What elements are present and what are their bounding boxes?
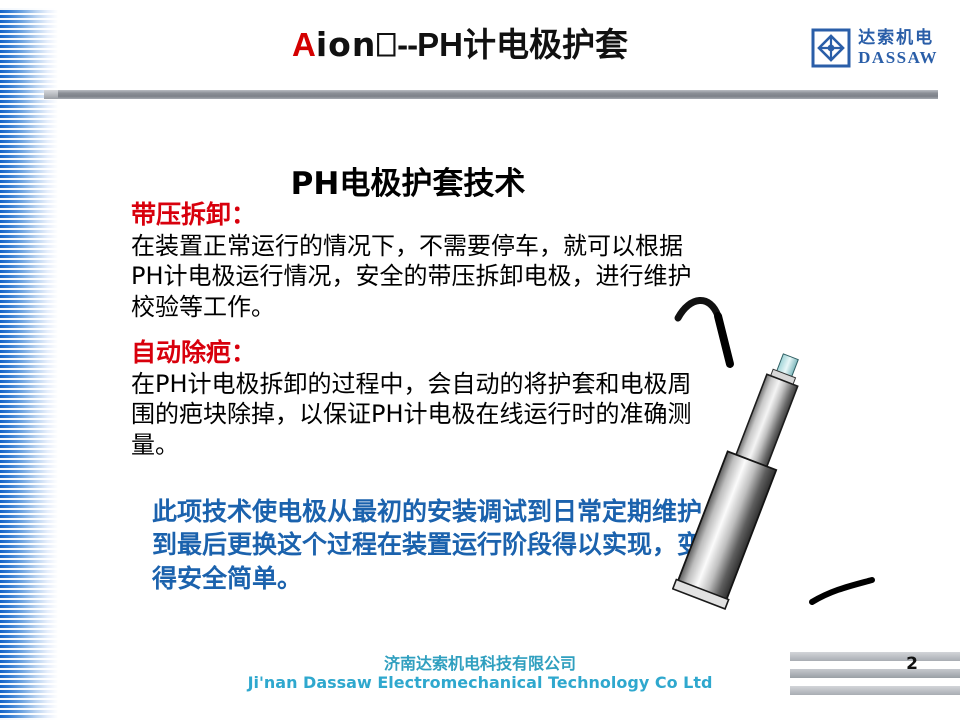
- company-logo: 达索机电 DASSAW: [811, 28, 938, 68]
- header-divider-cap: [44, 90, 58, 99]
- title-brand-rest: ion⎕: [316, 25, 397, 64]
- page-number: 2: [906, 654, 918, 674]
- footer-decoration-bars: [790, 652, 960, 708]
- title-main-text: PH计电极护套: [417, 26, 628, 63]
- slide-canvas: Aion⎕--PH计电极护套 达索机电 DASSAW PH电极护套技术 带压拆卸: [0, 0, 960, 720]
- content-block-1: 带压拆卸： 在装置正常运行的情况下，不需要停车，就可以根据PH计电极运行情况，安…: [131, 200, 711, 323]
- block-2-lead: 自动除疤：: [131, 338, 711, 368]
- logo-wordmark: 达索机电 DASSAW: [858, 30, 938, 66]
- footer-bar-1: [790, 652, 960, 661]
- footer-bar-2: [790, 669, 960, 678]
- logo-english-name: DASSAW: [858, 49, 938, 66]
- block-1-text: 在装置正常运行的情况下，不需要停车，就可以根据PH计电极运行情况，安全的带压拆卸…: [131, 231, 711, 323]
- highlight-note: 此项技术使电极从最初的安装调试到日常定期维护到最后更换这个过程在装置运行阶段得以…: [152, 495, 712, 595]
- slide-footer: 济南达索机电科技有限公司 Ji'nan Dassaw Electromechan…: [0, 640, 960, 720]
- ph-electrode-probe-image: [672, 280, 902, 620]
- header-divider-bar: [44, 90, 938, 99]
- content-block-2: 自动除疤： 在PH计电极拆卸的过程中，会自动的将护套和电极周围的疤块除掉，以保证…: [131, 338, 711, 461]
- block-2-text: 在PH计电极拆卸的过程中，会自动的将护套和电极周围的疤块除掉，以保证PH计电极在…: [131, 369, 711, 461]
- dassaw-square-logo-icon: [811, 28, 851, 68]
- block-1-lead: 带压拆卸：: [131, 200, 711, 230]
- footer-company-en: Ji'nan Dassaw Electromechanical Technolo…: [160, 673, 800, 692]
- logo-chinese-name: 达索机电: [858, 30, 938, 47]
- footer-bar-3: [790, 686, 960, 695]
- slide-body: PH电极护套技术 带压拆卸： 在装置正常运行的情况下，不需要停车，就可以根据PH…: [0, 100, 960, 640]
- title-initial-letter: A: [292, 26, 316, 63]
- title-separator: --: [397, 26, 417, 63]
- footer-company-cn: 济南达索机电科技有限公司: [240, 650, 720, 674]
- slide-header: Aion⎕--PH计电极护套 达索机电 DASSAW: [0, 0, 960, 100]
- page-title: Aion⎕--PH计电极护套: [180, 18, 740, 66]
- section-title: PH电极护套技术: [128, 158, 688, 203]
